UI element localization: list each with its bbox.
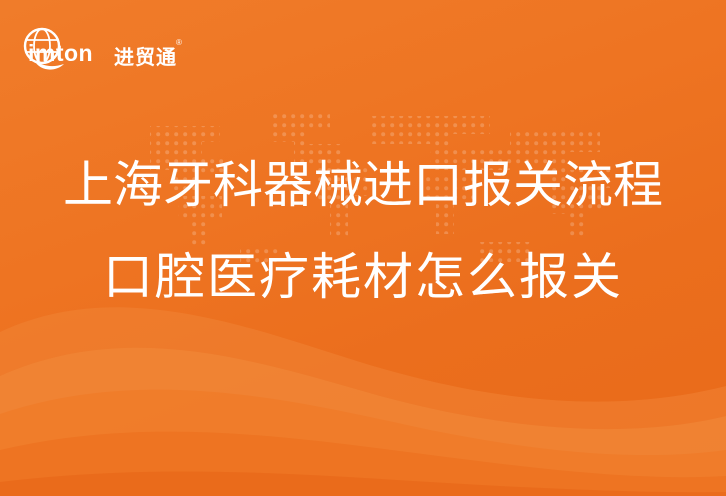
brand-logo: imton 进贸通 ® — [22, 26, 182, 72]
title-line-2: 口腔医疗耗材怎么报关 — [0, 242, 726, 312]
registered-trademark-icon: ® — [176, 38, 182, 47]
logo-chinese-name: 进贸通 — [114, 41, 177, 70]
poster-image: imton 进贸通 ® 上海牙科器械进口报关流程 口腔医疗耗材怎么报关 — [0, 0, 726, 496]
poster-title: 上海牙科器械进口报关流程 口腔医疗耗材怎么报关 — [0, 150, 726, 312]
title-line-1: 上海牙科器械进口报关流程 — [0, 150, 726, 220]
logo-wordmark: imton — [28, 40, 93, 67]
